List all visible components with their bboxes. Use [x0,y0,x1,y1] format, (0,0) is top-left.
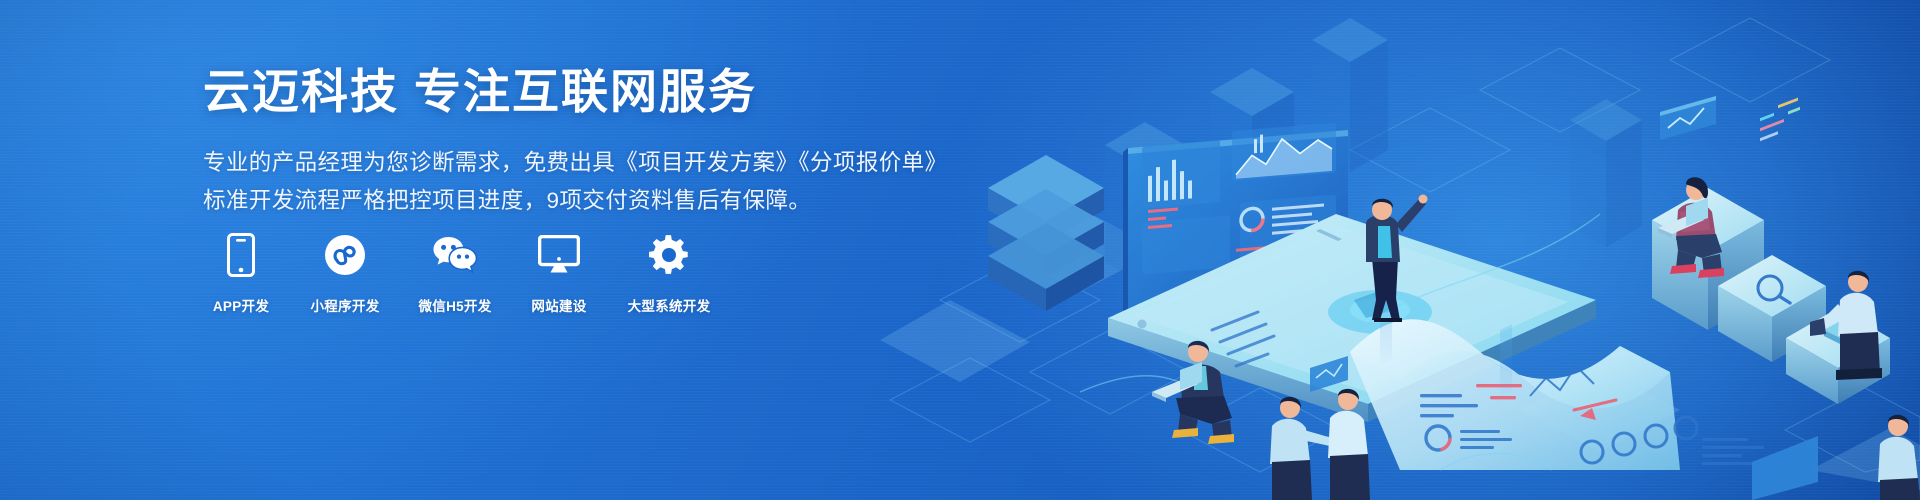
service-item-miniprogram[interactable]: 小程序开发 [303,232,387,315]
mobile-phone-icon [227,232,255,278]
service-label: 小程序开发 [311,295,380,315]
service-label: 微信H5开发 [418,295,491,315]
mini-program-icon [324,232,366,278]
page-title: 云迈科技 专注互联网服务 [203,66,923,119]
service-icon-row: APP开发 小程序开发 [205,232,717,315]
subtitle-line-1: 专业的产品经理为您诊断需求，免费出具《项目开发方案》《分项报价单》 [203,144,923,183]
service-label: 网站建设 [531,295,586,315]
service-item-website[interactable]: 网站建设 [523,232,595,315]
service-item-large-system[interactable]: 大型系统开发 [621,232,717,315]
isometric-illustration [880,0,1920,500]
service-item-wechat-h5[interactable]: 微信H5开发 [413,232,497,315]
gear-icon [648,232,690,278]
floating-mini-card [1660,96,1716,140]
server-stack [988,155,1104,311]
subtitle-line-2: 标准开发流程严格把控项目进度，9项交付资料售后有保障。 [203,182,923,221]
person-right-edge [1878,415,1920,500]
monitor-icon [538,232,580,278]
wechat-icon [432,232,478,278]
service-label: 大型系统开发 [628,295,711,315]
service-item-app[interactable]: APP开发 [205,232,277,315]
service-label: APP开发 [213,295,269,315]
banner-copy: 云迈科技 专注互联网服务 专业的产品经理为您诊断需求，免费出具《项目开发方案》《… [203,66,923,221]
banner-subtitle: 专业的产品经理为您诊断需求，免费出具《项目开发方案》《分项报价单》 标准开发流程… [203,144,923,221]
hero-banner: 云迈科技 专注互联网服务 专业的产品经理为您诊断需求，免费出具《项目开发方案》《… [0,0,1920,500]
